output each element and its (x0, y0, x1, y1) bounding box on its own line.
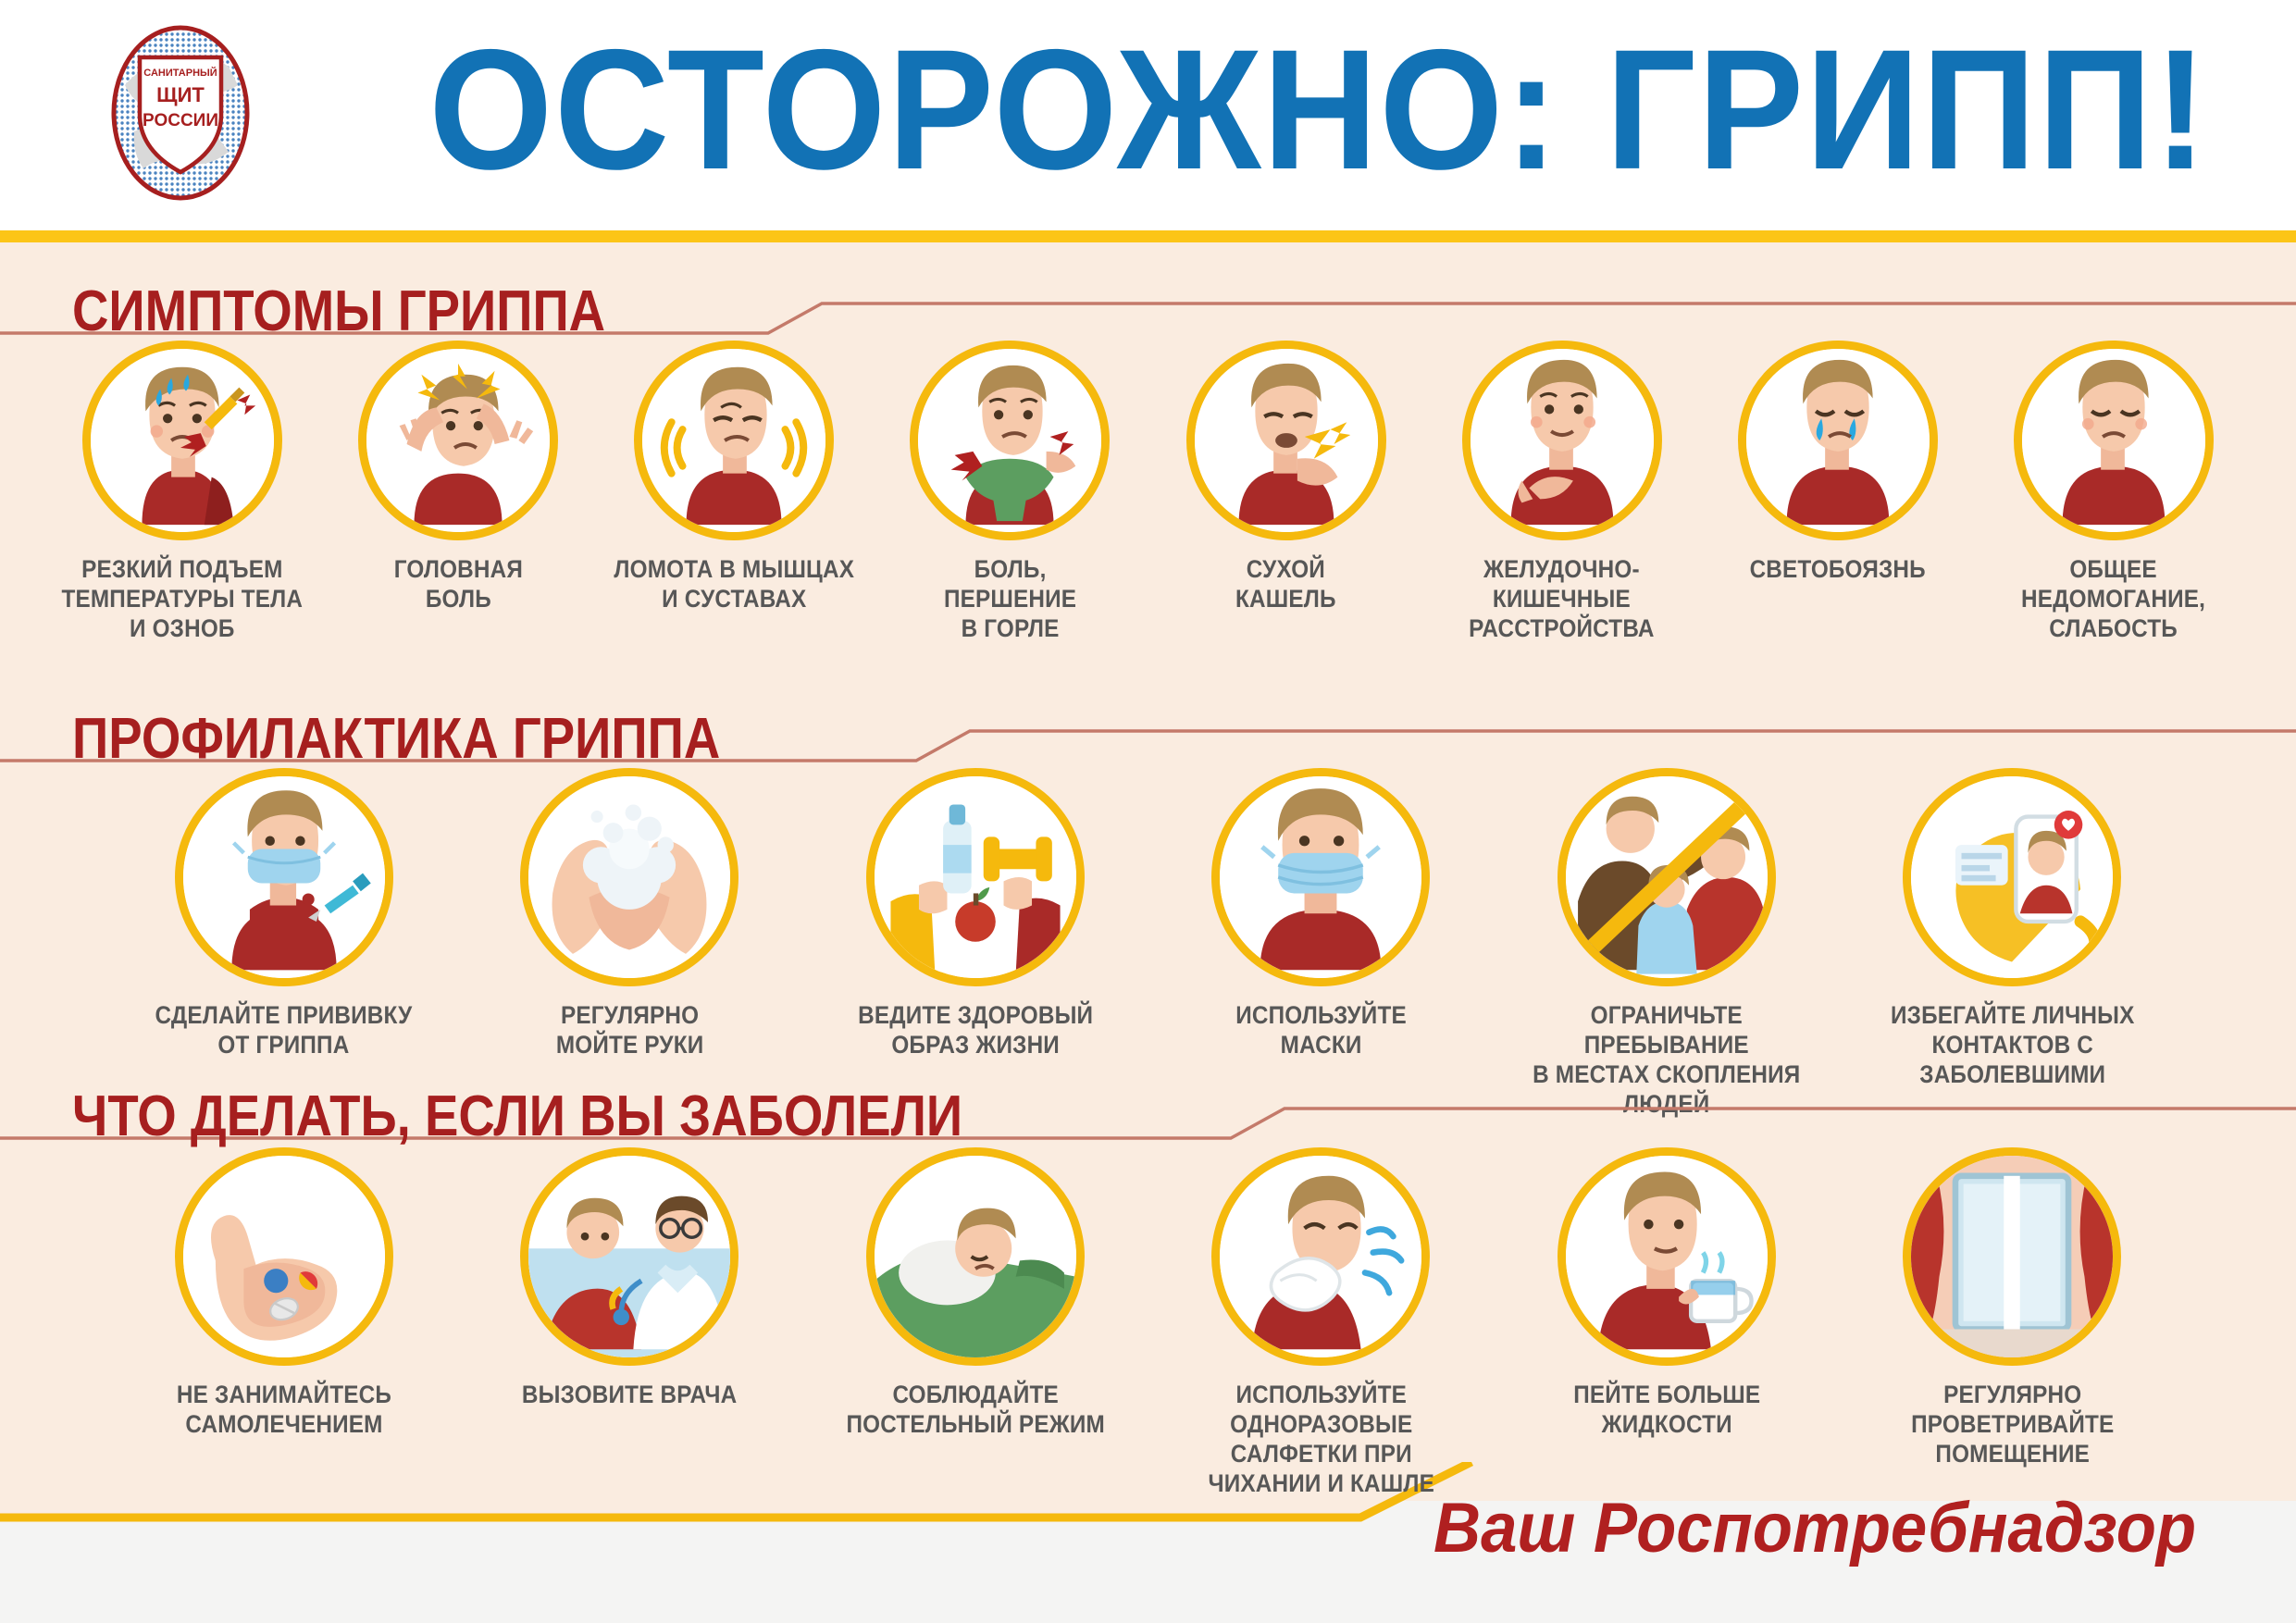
symptom-item[interactable]: ЖЕЛУДОЧНО- КИШЕЧНЫЕ РАССТРОЙСТВА (1424, 341, 1700, 644)
no-self-medication-pills-icon (175, 1147, 393, 1366)
symptom-label: СВЕТОБОЯЗНЬ (1750, 555, 1926, 585)
if-sick-label: РЕГУЛЯРНО ПРОВЕТРИВАЙТЕ ПОМЕЩЕНИЕ (1856, 1381, 2167, 1469)
drink-fluids-icon (1558, 1147, 1776, 1366)
symptoms-grid: РЕЗКИЙ ПОДЪЕМ ТЕМПЕРАТУРЫ ТЕЛА И ОЗНОБ (0, 341, 2296, 644)
if-sick-grid: НЕ ЗАНИМАЙТЕСЬ САМОЛЕЧЕНИЕМ (0, 1147, 2296, 1498)
prevention-item[interactable]: ВЕДИТЕ ЗДОРОВЫЙ ОБРАЗ ЖИЗНИ (802, 768, 1148, 1119)
section-if-sick: ЧТО ДЕЛАТЬ, ЕСЛИ ВЫ ЗАБОЛЕЛИ (0, 1070, 2296, 1142)
if-sick-item[interactable]: НЕ ЗАНИМАЙТЕСЬ САМОЛЕЧЕНИЕМ (111, 1147, 457, 1498)
symptom-item[interactable]: БОЛЬ, ПЕРШЕНИЕ В ГОРЛЕ (872, 341, 1148, 644)
section-title-symptoms: СИМПТОМЫ ГРИППА (72, 283, 605, 341)
prevention-item[interactable]: ОГРАНИЧЬТЕ ПРЕБЫВАНИЕ В МЕСТАХ СКОПЛЕНИЯ… (1494, 768, 1840, 1119)
disposable-tissue-icon (1211, 1147, 1430, 1366)
symptom-label: ЖЕЛУДОЧНО- КИШЕЧНЫЕ РАССТРОЙСТВА (1469, 555, 1654, 644)
if-sick-item[interactable]: СОБЛЮДАЙТЕ ПОСТЕЛЬНЫЙ РЕЖИМ (802, 1147, 1148, 1498)
logo-line1: САНИТАРНЫЙ (143, 67, 217, 79)
headache-icon (358, 341, 558, 540)
symptom-label: БОЛЬ, ПЕРШЕНИЕ В ГОРЛЕ (944, 555, 1076, 644)
prevention-label: СДЕЛАЙТЕ ПРИВИВКУ ОТ ГРИППА (155, 1001, 413, 1060)
avoid-contact-video-call-icon (1903, 768, 2121, 986)
logo-line3: РОССИИ (143, 111, 218, 130)
sore-throat-icon (910, 341, 1110, 540)
if-sick-label: ВЫЗОВИТЕ ВРАЧА (522, 1381, 737, 1410)
section-symptoms: СИМПТОМЫ ГРИППА (0, 265, 2296, 337)
if-sick-item[interactable]: ВЫЗОВИТЕ ВРАЧА (457, 1147, 803, 1498)
avoid-crowds-icon (1558, 768, 1776, 986)
prevention-item[interactable]: СДЕЛАЙТЕ ПРИВИВКУ ОТ ГРИППА (111, 768, 457, 1119)
symptom-item[interactable]: РЕЗКИЙ ПОДЪЕМ ТЕМПЕРАТУРЫ ТЕЛА И ОЗНОБ (44, 341, 320, 644)
page-title: ОСТОРОЖНО: ГРИПП! (463, 11, 2176, 210)
sanitary-shield-of-russia-emblem: САНИТАРНЫЙ ЩИТ РОССИИ (97, 20, 264, 205)
prevention-grid: СДЕЛАЙТЕ ПРИВИВКУ ОТ ГРИППА (0, 768, 2296, 1119)
logo-line2: ЩИТ (156, 83, 205, 106)
muscle-joint-ache-icon (634, 341, 834, 540)
header-gold-divider (0, 230, 2296, 242)
wash-hands-icon (520, 768, 738, 986)
prevention-item[interactable]: ИСПОЛЬЗУЙТЕ МАСКИ (1148, 768, 1495, 1119)
symptom-item[interactable]: ОБЩЕЕ НЕДОМОГАНИЕ, СЛАБОСТЬ (1976, 341, 2252, 644)
if-sick-label: ИСПОЛЬЗУЙТЕ ОДНОРАЗОВЫЕ САЛФЕТКИ ПРИ ЧИХ… (1165, 1381, 1476, 1498)
fever-thermometer-icon (82, 341, 282, 540)
general-malaise-icon (2014, 341, 2214, 540)
stomach-upset-icon (1462, 341, 1662, 540)
symptom-label: ОБЩЕЕ НЕДОМОГАНИЕ, СЛАБОСТЬ (2021, 555, 2205, 644)
vaccination-icon (175, 768, 393, 986)
symptom-label: ЛОМОТА В МЫШЦАХ И СУСТАВАХ (614, 555, 854, 614)
photophobia-icon (1738, 341, 1938, 540)
symptom-label: СУХОЙ КАШЕЛЬ (1235, 555, 1336, 614)
prevention-item[interactable]: РЕГУЛЯРНО МОЙТЕ РУКИ (457, 768, 803, 1119)
face-mask-icon (1211, 768, 1430, 986)
prevention-label: РЕГУЛЯРНО МОЙТЕ РУКИ (555, 1001, 703, 1060)
symptom-item[interactable]: СВЕТОБОЯЗНЬ (1700, 341, 1976, 644)
healthy-lifestyle-icon (866, 768, 1085, 986)
ventilate-room-window-icon (1903, 1147, 2121, 1366)
if-sick-label: СОБЛЮДАЙТЕ ПОСТЕЛЬНЫЙ РЕЖИМ (846, 1381, 1104, 1440)
section-prevention: ПРОФИЛАКТИКА ГРИППА (0, 692, 2296, 764)
poster-header: САНИТАРНЫЙ ЩИТ РОССИИ ОСТОРОЖНО: ГРИПП! (0, 0, 2296, 230)
prevention-label: ВЕДИТЕ ЗДОРОВЫЙ ОБРАЗ ЖИЗНИ (858, 1001, 1093, 1060)
if-sick-label: ПЕЙТЕ БОЛЬШЕ ЖИДКОСТИ (1573, 1381, 1760, 1440)
if-sick-label: НЕ ЗАНИМАЙТЕСЬ САМОЛЕЧЕНИЕМ (177, 1381, 391, 1440)
section-title-prevention: ПРОФИЛАКТИКА ГРИППА (72, 711, 720, 768)
if-sick-item[interactable]: РЕГУЛЯРНО ПРОВЕТРИВАЙТЕ ПОМЕЩЕНИЕ (1840, 1147, 2186, 1498)
symptom-label: ГОЛОВНАЯ БОЛЬ (394, 555, 523, 614)
dry-cough-icon (1186, 341, 1386, 540)
prevention-item[interactable]: ИЗБЕГАЙТЕ ЛИЧНЫХ КОНТАКТОВ С ЗАБОЛЕВШИМИ (1840, 768, 2186, 1119)
symptom-item[interactable]: ЛОМОТА В МЫШЦАХ И СУСТАВАХ (596, 341, 872, 644)
symptom-label: РЕЗКИЙ ПОДЪЕМ ТЕМПЕРАТУРЫ ТЕЛА И ОЗНОБ (62, 555, 304, 644)
symptom-item[interactable]: СУХОЙ КАШЕЛЬ (1148, 341, 1424, 644)
section-title-if-sick: ЧТО ДЕЛАТЬ, ЕСЛИ ВЫ ЗАБОЛЕЛИ (72, 1088, 962, 1146)
bed-rest-icon (866, 1147, 1085, 1366)
call-doctor-icon (520, 1147, 738, 1366)
if-sick-item[interactable]: ПЕЙТЕ БОЛЬШЕ ЖИДКОСТИ (1494, 1147, 1840, 1498)
if-sick-item[interactable]: ИСПОЛЬЗУЙТЕ ОДНОРАЗОВЫЕ САЛФЕТКИ ПРИ ЧИХ… (1148, 1147, 1495, 1498)
symptom-item[interactable]: ГОЛОВНАЯ БОЛЬ (320, 341, 596, 644)
poster-root: САНИТАРНЫЙ ЩИТ РОССИИ ОСТОРОЖНО: ГРИПП! … (0, 0, 2296, 1623)
footer-brand: Ваш Роспотребнадзор (1433, 1488, 2196, 1568)
prevention-label: ИСПОЛЬЗУЙТЕ МАСКИ (1235, 1001, 1407, 1060)
